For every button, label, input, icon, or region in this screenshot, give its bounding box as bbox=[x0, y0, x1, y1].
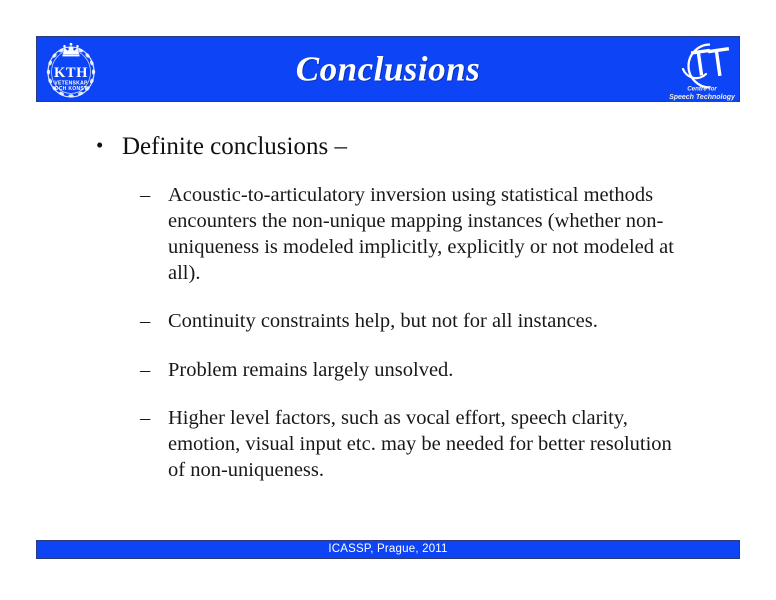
svg-text:OCH KONST: OCH KONST bbox=[55, 86, 88, 92]
bullet-level2-text: Acoustic-to-articulatory inversion using… bbox=[168, 184, 674, 285]
svg-text:Centre for: Centre for bbox=[687, 86, 717, 93]
dash-marker-icon: – bbox=[140, 357, 150, 383]
dash-marker-icon: – bbox=[140, 182, 150, 208]
bullet-level2-text: Problem remains largely unsolved. bbox=[168, 359, 453, 381]
bullet-level2: – Continuity constraints help, but not f… bbox=[92, 308, 692, 334]
bullet-level2: – Problem remains largely unsolved. bbox=[92, 357, 692, 383]
dash-marker-icon: – bbox=[140, 308, 150, 334]
ctt-logo: Centre for Speech Technology bbox=[666, 38, 738, 102]
slide-body: • Definite conclusions – – Acoustic-to-a… bbox=[92, 132, 692, 484]
footer-text: ICASSP, Prague, 2011 bbox=[328, 544, 447, 556]
svg-text:Speech Technology: Speech Technology bbox=[669, 94, 736, 101]
bullet-level2: – Acoustic-to-articulatory inversion usi… bbox=[92, 182, 692, 287]
bullet-level2: – Higher level factors, such as vocal ef… bbox=[92, 405, 692, 484]
sub-bullet-list: – Acoustic-to-articulatory inversion usi… bbox=[92, 182, 692, 484]
bullet-marker-icon: • bbox=[96, 132, 103, 159]
ctt-logo-graphic: Centre for Speech Technology bbox=[666, 38, 738, 102]
slide-canvas: { "slide": { "title": "Conclusions", "ac… bbox=[0, 0, 776, 600]
dash-marker-icon: – bbox=[140, 405, 150, 431]
bullet-level2-text: Continuity constraints help, but not for… bbox=[168, 310, 598, 332]
slide-footer-bar: ICASSP, Prague, 2011 bbox=[36, 540, 740, 559]
slide-header-bar: KTH VETENSKAP OCH KONST Conclusions Cent… bbox=[36, 36, 740, 102]
bullet-level1-text: Definite conclusions – bbox=[122, 133, 347, 160]
slide-title: Conclusions bbox=[37, 52, 739, 87]
bullet-level2-text: Higher level factors, such as vocal effo… bbox=[168, 407, 672, 481]
bullet-level1: • Definite conclusions – bbox=[92, 132, 692, 162]
